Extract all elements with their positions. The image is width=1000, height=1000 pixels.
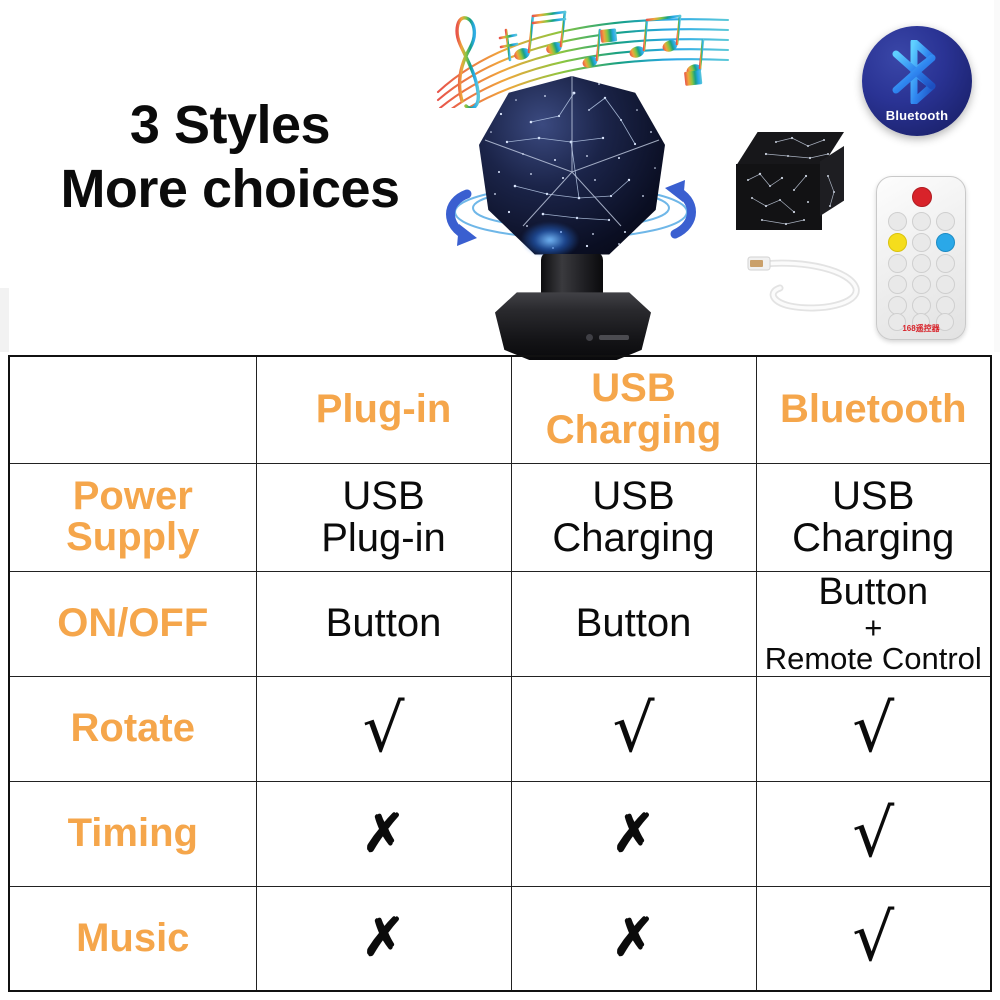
cell-timing-bluetooth: √: [756, 781, 991, 886]
star-projector-lamp-icon: [437, 72, 705, 360]
bluetooth-badge-label: Bluetooth: [862, 108, 972, 123]
table-row: Rotate √ √ √: [9, 676, 991, 781]
header-usb-charging-line2: Charging: [546, 408, 722, 452]
bluetooth-rune-icon: [888, 40, 946, 104]
cell-onoff-bluetooth-line1: Button: [761, 572, 987, 612]
remote-key-plus: [888, 212, 907, 231]
cell-onoff-plugin: Button: [256, 571, 511, 676]
cell-power-plugin-line1: USB: [342, 474, 424, 518]
hero-section: 3 Styles More choices: [0, 0, 1000, 352]
cell-onoff-bluetooth: Button + Remote Control: [756, 571, 991, 676]
cell-onoff-bluetooth-plus: +: [761, 612, 987, 643]
cell-power-usb-line1: USB: [592, 474, 674, 518]
remote-key-wyb: [912, 233, 931, 252]
product-comparison-infographic: 3 Styles More choices: [0, 0, 1000, 1000]
cell-music-plugin: ✗: [256, 886, 511, 991]
cell-timing-plugin: ✗: [256, 781, 511, 886]
header-bluetooth: Bluetooth: [756, 356, 991, 463]
row-label-power-supply-line2: Supply: [66, 515, 199, 559]
cell-power-bluetooth-line2: Charging: [792, 516, 954, 560]
cell-rotate-usb: √: [511, 676, 756, 781]
remote-control-icon: 168遥控器: [876, 176, 966, 340]
cell-timing-usb: ✗: [511, 781, 756, 886]
remote-key-w: [912, 212, 931, 231]
cell-onoff-bluetooth-line3: Remote Control: [761, 643, 987, 676]
page-title: 3 Styles More choices: [30, 96, 430, 219]
remote-key-yellow: [888, 233, 907, 252]
cell-rotate-plugin: √: [256, 676, 511, 781]
row-label-timing: Timing: [9, 781, 256, 886]
headline-line-1: 3 Styles: [30, 96, 430, 154]
cell-power-bluetooth: USB Charging: [756, 463, 991, 571]
power-button: [586, 334, 593, 341]
remote-key-bright-up: [912, 275, 931, 294]
header-usb-charging: USB Charging: [511, 356, 756, 463]
remote-key-timer-30: [888, 275, 907, 294]
remote-key-r1c3: [936, 254, 955, 273]
constellation-gift-box-icon: [736, 132, 844, 232]
usb-cable-icon: [746, 248, 872, 318]
cell-power-bluetooth-line1: USB: [832, 474, 914, 518]
usb-port: [599, 335, 629, 340]
row-label-rotate: Rotate: [9, 676, 256, 781]
row-label-music: Music: [9, 886, 256, 991]
gift-box-constellation-pattern: [736, 132, 844, 232]
cell-power-plugin-line2: Plug-in: [321, 516, 446, 560]
remote-key-r1c1: [888, 254, 907, 273]
table-row: Power Supply USB Plug-in USB Charging US…: [9, 463, 991, 571]
lamp-light-glow: [521, 222, 579, 258]
cell-power-usb: USB Charging: [511, 463, 756, 571]
cell-power-plugin: USB Plug-in: [256, 463, 511, 571]
cell-power-usb-line2: Charging: [552, 516, 714, 560]
table-row: ON/OFF Button Button Button + Remote Con…: [9, 571, 991, 676]
lamp-base: [495, 288, 651, 360]
remote-key-rotate: [912, 254, 931, 273]
row-label-power-supply: Power Supply: [9, 463, 256, 571]
cell-music-bluetooth: √: [756, 886, 991, 991]
table-row: Timing ✗ ✗ √: [9, 781, 991, 886]
cell-onoff-usb: Button: [511, 571, 756, 676]
remote-key-blue: [936, 233, 955, 252]
table-corner-cell: [9, 356, 256, 463]
remote-key-minus: [936, 212, 955, 231]
bluetooth-logo-badge: Bluetooth: [862, 26, 972, 136]
remote-model-label: 168遥控器: [877, 323, 965, 334]
row-label-power-supply-line1: Power: [73, 474, 193, 518]
header-usb-charging-line1: USB: [591, 366, 675, 410]
cell-rotate-bluetooth: √: [756, 676, 991, 781]
header-plug-in: Plug-in: [256, 356, 511, 463]
row-label-on-off: ON/OFF: [9, 571, 256, 676]
cell-music-usb: ✗: [511, 886, 756, 991]
table-row: Music ✗ ✗ √: [9, 886, 991, 991]
remote-power-key: [912, 187, 932, 207]
remote-key-timer-60: [936, 275, 955, 294]
comparison-table: Plug-in USB Charging Bluetooth Power Sup…: [8, 355, 992, 992]
headline-line-2: More choices: [30, 160, 430, 218]
table-header-row: Plug-in USB Charging Bluetooth: [9, 356, 991, 463]
